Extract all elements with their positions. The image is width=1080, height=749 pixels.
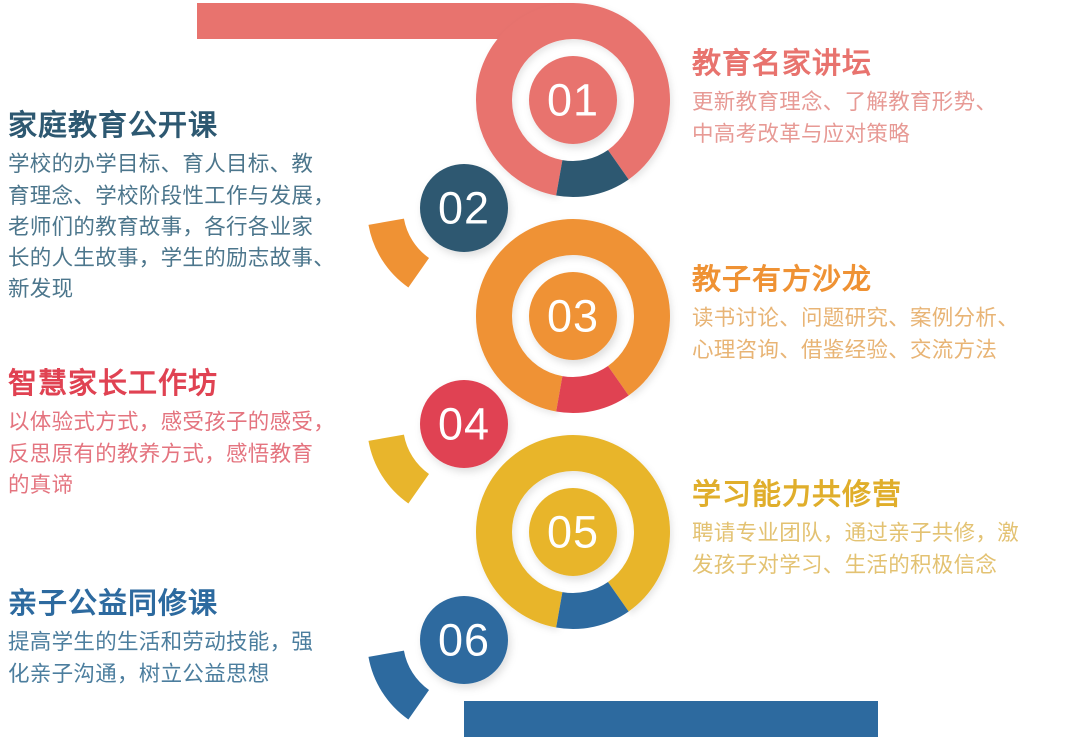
- step-body-01: 更新教育理念、了解教育形势、 中高考改革与应对策略: [692, 87, 1074, 149]
- step-body-02: 学校的办学目标、育人目标、教 育理念、学校阶段性工作与发展， 老师们的教育故事，…: [8, 149, 384, 305]
- step-body-line: 的真谛: [8, 473, 73, 497]
- step-title-01: 教育名家讲坛: [692, 48, 1074, 81]
- step-body-03: 读书讨论、问题研究、案例分析、 心理咨询、借鉴经验、交流方法: [692, 303, 1074, 365]
- infographic-canvas: 01 02 03 04 05 06 教育名家讲坛 更新教育理念、了解教育形势、 …: [0, 0, 1080, 749]
- step-body-06: 提高学生的生活和劳动技能，强 化亲子沟通，树立公益思想: [8, 627, 384, 689]
- step-title-05: 学习能力共修营: [692, 479, 1074, 512]
- step-body-line: 育理念、学校阶段性工作与发展，: [8, 184, 335, 208]
- step-text-03: 教子有方沙龙 读书讨论、问题研究、案例分析、 心理咨询、借鉴经验、交流方法: [692, 264, 1074, 366]
- step-text-01: 教育名家讲坛 更新教育理念、了解教育形势、 中高考改革与应对策略: [692, 48, 1074, 150]
- step-body-line: 反思原有的教养方式，感悟教育: [8, 442, 313, 466]
- step-text-04: 智慧家长工作坊 以体验式方式，感受孩子的感受， 反思原有的教养方式，感悟教育 的…: [8, 368, 384, 501]
- step-body-line: 心理咨询、借鉴经验、交流方法: [692, 338, 997, 362]
- step-text-05: 学习能力共修营 聘请专业团队，通过亲子共修，激 发孩子对学习、生活的积极信念: [692, 479, 1074, 581]
- step-number-05: 05: [547, 510, 599, 555]
- step-body-line: 读书讨论、问题研究、案例分析、: [692, 306, 1019, 330]
- step-body-line: 新发现: [8, 277, 73, 301]
- step-title-04: 智慧家长工作坊: [8, 368, 384, 401]
- step-body-line: 提高学生的生活和劳动技能，强: [8, 630, 313, 654]
- step-text-06: 亲子公益同修课 提高学生的生活和劳动技能，强 化亲子沟通，树立公益思想: [8, 588, 384, 690]
- step-body-line: 长的人生故事，学生的励志故事、: [8, 246, 335, 270]
- step-title-02: 家庭教育公开课: [8, 110, 384, 143]
- step-body-line: 以体验式方式，感受孩子的感受，: [8, 410, 335, 434]
- step-number-03: 03: [547, 294, 599, 339]
- step-body-line: 中高考改革与应对策略: [692, 122, 910, 146]
- step-number-01: 01: [547, 78, 599, 123]
- step-body-04: 以体验式方式，感受孩子的感受， 反思原有的教养方式，感悟教育 的真谛: [8, 407, 384, 501]
- step-title-03: 教子有方沙龙: [692, 264, 1074, 297]
- step-body-line: 聘请专业团队，通过亲子共修，激: [692, 521, 1019, 545]
- step-body-line: 老师们的教育故事，各行各业家: [8, 215, 313, 239]
- step-number-02: 02: [438, 186, 490, 231]
- step-body-line: 学校的办学目标、育人目标、教: [8, 152, 313, 176]
- step-body-line: 更新教育理念、了解教育形势、: [692, 90, 997, 114]
- step-text-02: 家庭教育公开课 学校的办学目标、育人目标、教 育理念、学校阶段性工作与发展， 老…: [8, 110, 384, 305]
- step-number-06: 06: [438, 618, 490, 663]
- step-body-05: 聘请专业团队，通过亲子共修，激 发孩子对学习、生活的积极信念: [692, 518, 1074, 580]
- step-title-06: 亲子公益同修课: [8, 588, 384, 621]
- step-body-line: 发孩子对学习、生活的积极信念: [692, 553, 997, 577]
- step-body-line: 化亲子沟通，树立公益思想: [8, 662, 270, 686]
- step-number-04: 04: [438, 402, 490, 447]
